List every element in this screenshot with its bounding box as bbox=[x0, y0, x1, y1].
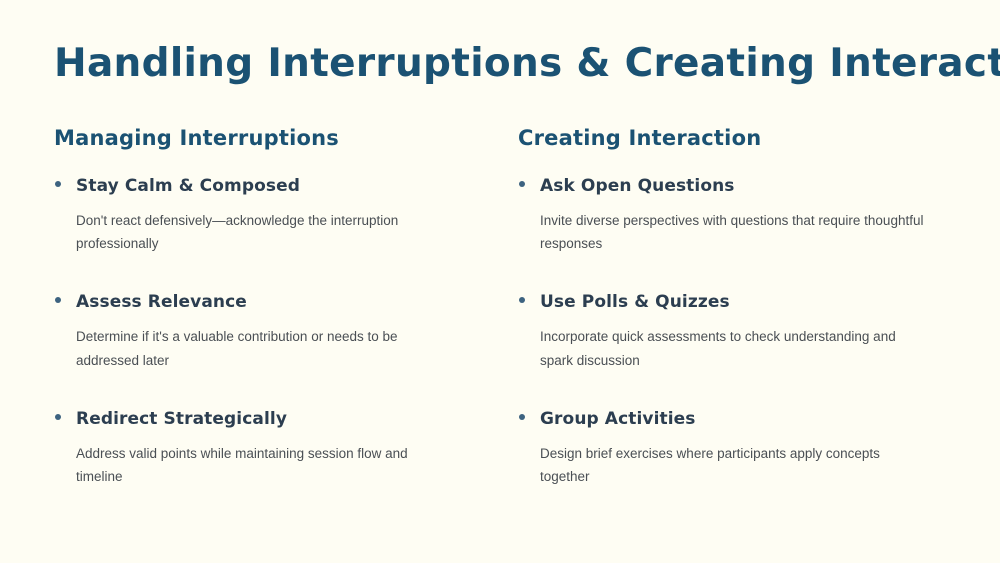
slide: Handling Interruptions & Creating Intera… bbox=[0, 0, 1000, 563]
bullet-dot-icon bbox=[54, 181, 76, 187]
bullet-row: Ask Open Questions bbox=[518, 176, 982, 196]
bullet-dot-icon bbox=[518, 297, 540, 303]
section-heading-left: Managing Interruptions bbox=[54, 126, 518, 150]
list-item-description: Determine if it's a valuable contributio… bbox=[76, 325, 436, 371]
bullet-row: Redirect Strategically bbox=[54, 409, 518, 429]
list-item: Group Activities Design brief exercises … bbox=[518, 409, 982, 488]
section-heading-right: Creating Interaction bbox=[518, 126, 982, 150]
list-item: Stay Calm & Composed Don't react defensi… bbox=[54, 176, 518, 255]
list-item-description: Address valid points while maintaining s… bbox=[76, 442, 436, 488]
list-item-description: Invite diverse perspectives with questio… bbox=[540, 209, 932, 255]
list-item: Redirect Strategically Address valid poi… bbox=[54, 409, 518, 488]
list-item: Ask Open Questions Invite diverse perspe… bbox=[518, 176, 982, 255]
column-managing-interruptions: Managing Interruptions Stay Calm & Compo… bbox=[54, 126, 518, 488]
content-columns: Managing Interruptions Stay Calm & Compo… bbox=[0, 126, 1000, 488]
list-item-title: Ask Open Questions bbox=[540, 176, 735, 196]
list-item-title: Use Polls & Quizzes bbox=[540, 292, 730, 312]
page-title: Handling Interruptions & Creating Intera… bbox=[54, 41, 954, 87]
bullet-dot-icon bbox=[518, 414, 540, 420]
list-item-title: Assess Relevance bbox=[76, 292, 247, 312]
bullet-dot-icon bbox=[54, 297, 76, 303]
bullet-dot-icon bbox=[54, 414, 76, 420]
list-item-description: Design brief exercises where participant… bbox=[540, 442, 932, 488]
list-item-title: Redirect Strategically bbox=[76, 409, 287, 429]
list-item: Assess Relevance Determine if it's a val… bbox=[54, 292, 518, 371]
list-item-description: Incorporate quick assessments to check u… bbox=[540, 325, 932, 371]
bullet-row: Stay Calm & Composed bbox=[54, 176, 518, 196]
bullet-row: Assess Relevance bbox=[54, 292, 518, 312]
list-item-description: Don't react defensively—acknowledge the … bbox=[76, 209, 436, 255]
bullet-row: Use Polls & Quizzes bbox=[518, 292, 982, 312]
column-creating-interaction: Creating Interaction Ask Open Questions … bbox=[518, 126, 982, 488]
bullet-row: Group Activities bbox=[518, 409, 982, 429]
bullet-dot-icon bbox=[518, 181, 540, 187]
list-item-title: Group Activities bbox=[540, 409, 696, 429]
list-item: Use Polls & Quizzes Incorporate quick as… bbox=[518, 292, 982, 371]
list-item-title: Stay Calm & Composed bbox=[76, 176, 300, 196]
